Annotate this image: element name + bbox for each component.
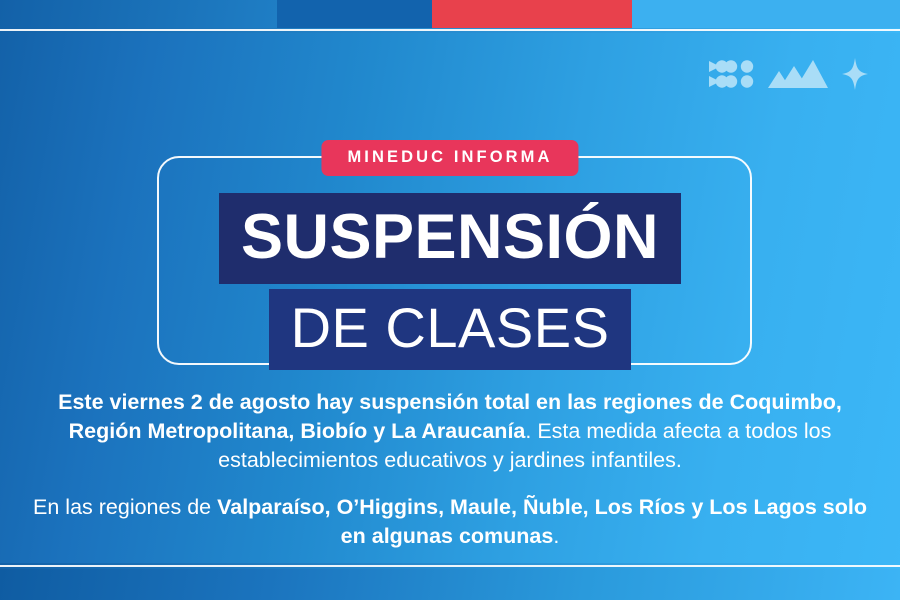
paragraph-2-bold: Valparaíso, O’Higgins, Maule, Ñuble, Los…: [217, 495, 867, 548]
top-flag-strip: [0, 0, 900, 28]
bottom-divider-line: [0, 563, 900, 569]
paragraph-2-tail: .: [553, 524, 559, 548]
bottom-strip: [0, 569, 900, 600]
mineduc-gob-logo: [708, 58, 868, 90]
poster-canvas: MINEDUC INFORMA SUSPENSIÓN DE CLASES Est…: [0, 0, 900, 600]
paragraph-2-lead: En las regiones de: [33, 495, 217, 519]
page-title-line2-row: DE CLASES: [0, 289, 900, 370]
top-strip-segment-red: [432, 0, 632, 28]
paragraph-1: Este viernes 2 de agosto hay suspensión …: [24, 388, 876, 475]
top-divider-line: [0, 28, 900, 33]
mineduc-informa-badge: MINEDUC INFORMA: [321, 140, 578, 176]
page-title-line2: DE CLASES: [269, 289, 632, 370]
speech-bubble-dots-icon: [708, 59, 754, 89]
four-point-star-icon: [842, 58, 868, 90]
top-strip-segment-navy: [277, 0, 432, 28]
poster-title: SUSPENSIÓN DE CLASES: [0, 193, 900, 370]
top-strip-segment-blue-right: [632, 0, 900, 28]
top-strip-segment-blue-left: [0, 0, 277, 28]
paragraph-2: En las regiones de Valparaíso, O’Higgins…: [24, 493, 876, 551]
page-title-line1: SUSPENSIÓN: [219, 193, 681, 284]
mountains-icon: [768, 59, 828, 89]
body-copy: Este viernes 2 de agosto hay suspensión …: [24, 388, 876, 551]
